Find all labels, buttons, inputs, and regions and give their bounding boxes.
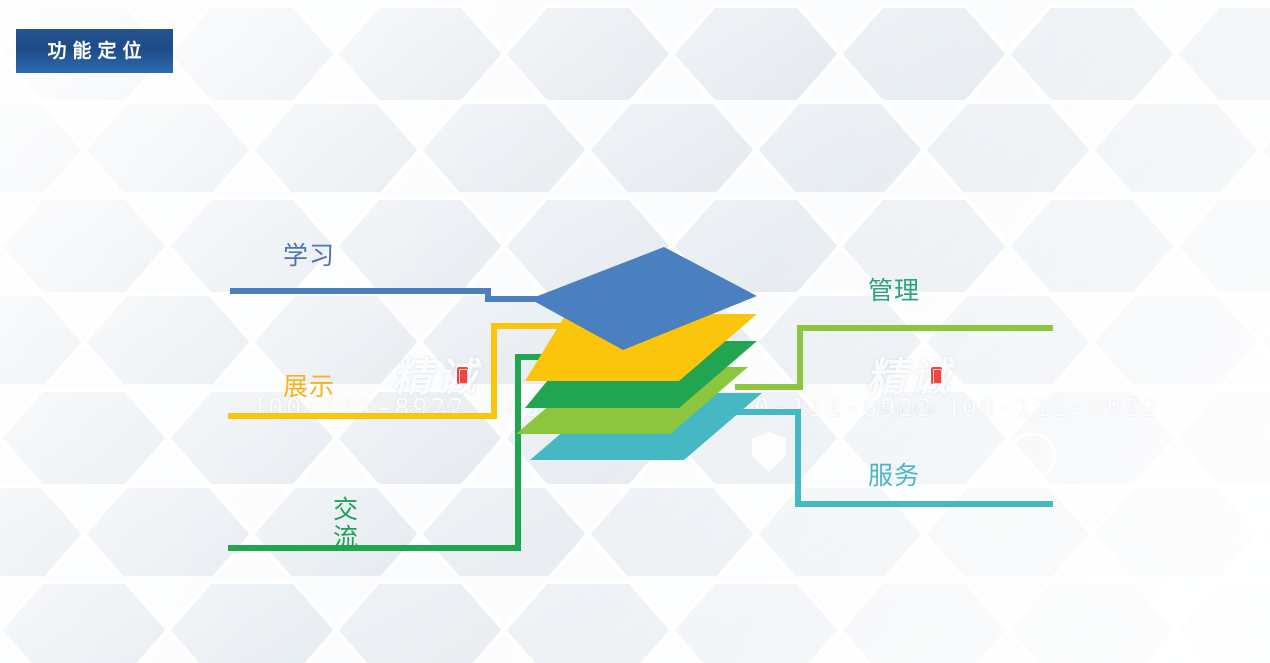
node-label-zhanshi[interactable]: 展示 [283,373,335,401]
node-label-guanli[interactable]: 管理 [868,277,920,305]
stacked-layers-diagram [0,0,1270,663]
title-badge-label: 功能定位 [41,42,147,61]
node-label-xuexi[interactable]: 学习 [283,242,335,270]
node-label-fuwu[interactable]: 服务 [868,462,920,490]
title-badge: 功能定位 [16,29,173,73]
slide-canvas: 400-111-8922 400-111-8922 400-111-8922 4… [0,0,1270,663]
node-label-jiaoliu[interactable]: 交 流 [333,496,359,552]
